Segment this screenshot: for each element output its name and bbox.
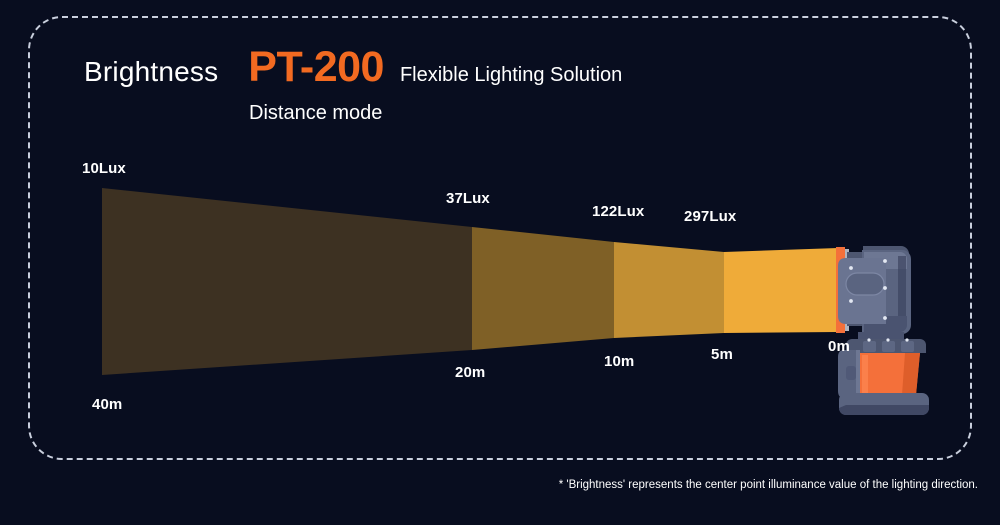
lamp-body-highlight (862, 355, 868, 393)
distance-label-40m: 40m (92, 396, 122, 413)
brightness-infographic: Brightness PT-200 Flexible Lighting Solu… (0, 0, 1000, 525)
lamp-screw-3 (883, 259, 887, 263)
footnote: * 'Brightness' represents the center poi… (559, 479, 978, 491)
lamp-cap-vent-3 (901, 341, 914, 352)
lamp-screw-4 (883, 286, 887, 290)
beam-segment-37lux (472, 227, 614, 350)
lamp-head-side-ridge (898, 256, 906, 320)
lux-label-122: 122Lux (592, 203, 644, 220)
lux-label-10: 10Lux (82, 160, 126, 177)
lamp-screw-2 (849, 299, 853, 303)
lamp-rail-clip (846, 366, 856, 380)
lamp-cap-screw-2 (886, 338, 889, 341)
beam-segment-10lux (102, 188, 472, 375)
lux-label-37: 37Lux (446, 190, 490, 207)
lamp-body-shade-right (902, 353, 920, 395)
beam-svg (0, 0, 1000, 525)
lux-label-297: 297Lux (684, 208, 736, 225)
work-light-illustration (836, 246, 929, 415)
distance-label-20m: 20m (455, 364, 485, 381)
lamp-cap-vent-1 (863, 341, 876, 352)
lamp-cap-vent-2 (882, 341, 895, 352)
lamp-cap-screw-1 (867, 338, 870, 341)
distance-label-5m: 5m (711, 346, 733, 363)
beam-segment-297lux (724, 248, 838, 333)
lamp-rail-edge (856, 350, 860, 398)
lamp-cap-screw-3 (905, 338, 908, 341)
beam-segment-122lux (614, 242, 724, 338)
lamp-screw-1 (849, 266, 853, 270)
beam-diagram (0, 0, 1000, 525)
lamp-foot-shadow (839, 405, 929, 415)
distance-label-10m: 10m (604, 353, 634, 370)
lamp-screw-5 (883, 316, 887, 320)
lamp-yoke-pad (846, 273, 884, 295)
distance-label-0m: 0m (828, 338, 850, 355)
